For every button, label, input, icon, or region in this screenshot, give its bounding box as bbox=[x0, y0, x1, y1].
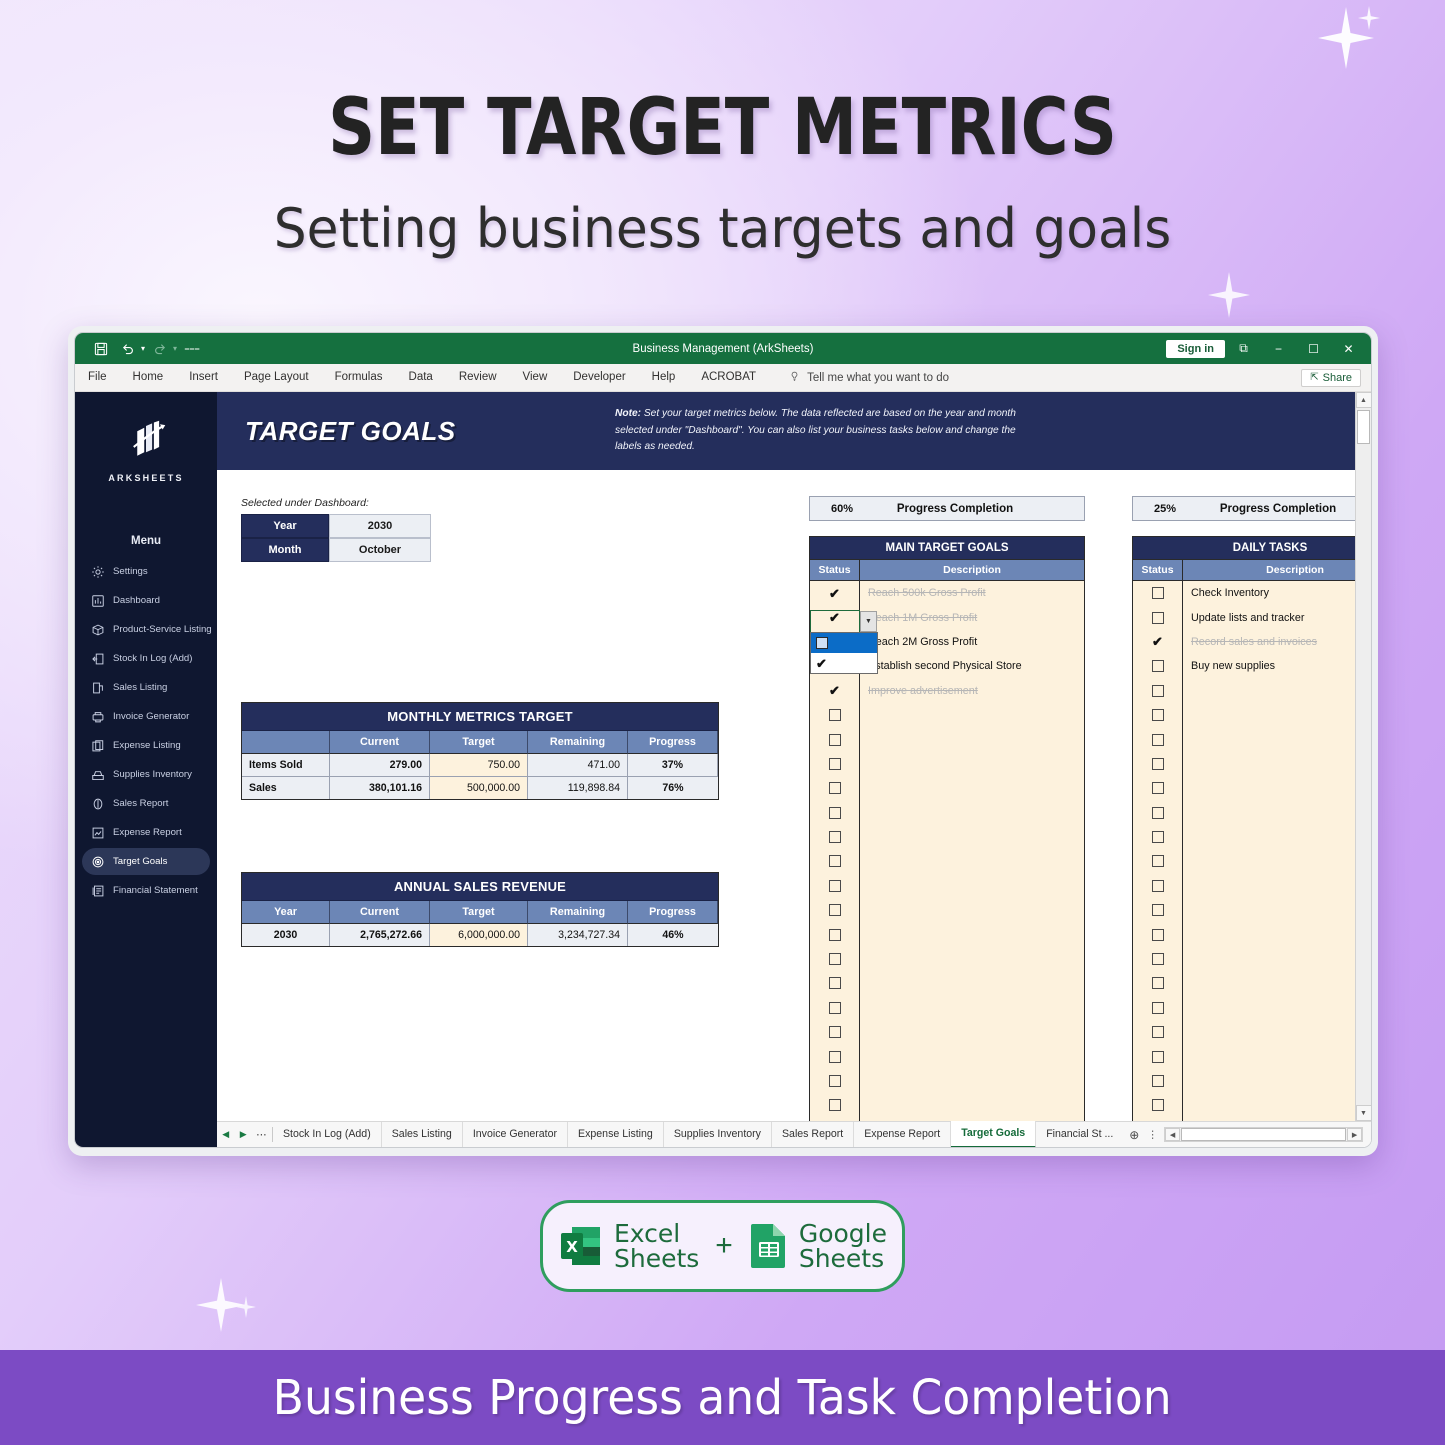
sidebar-item-financial-statement[interactable]: Financial Statement bbox=[82, 877, 210, 904]
ribbon-display-options-icon[interactable]: ⧉ bbox=[1227, 336, 1260, 362]
selector-key: Month bbox=[241, 538, 329, 562]
main-goal-status-cell[interactable] bbox=[810, 752, 860, 776]
daily-task-status-cell[interactable] bbox=[1133, 898, 1183, 922]
chart-icon bbox=[90, 593, 105, 608]
main-goal-row bbox=[810, 922, 1084, 946]
target-icon bbox=[90, 854, 105, 869]
cell-current: 2,765,272.66 bbox=[330, 924, 430, 946]
cell-progress: 46% bbox=[628, 924, 718, 946]
main-goal-status-cell[interactable] bbox=[810, 801, 860, 825]
unchecked-box-icon bbox=[1152, 1002, 1164, 1014]
hscroll-left-icon[interactable]: ◀ bbox=[1165, 1128, 1180, 1141]
sidebar-item-expense-listing[interactable]: Expense Listing bbox=[82, 732, 210, 759]
arksheets-logo-icon bbox=[125, 420, 167, 460]
sidebar-item-label: Sales Listing bbox=[113, 682, 167, 693]
unchecked-box-icon bbox=[829, 1026, 841, 1038]
column-header: Target bbox=[430, 731, 528, 754]
column-header: Progress bbox=[628, 901, 718, 924]
daily-task-row bbox=[1133, 849, 1355, 873]
google-sheets-badge-group: Google Sheets bbox=[749, 1221, 887, 1272]
sidebar-item-sales-report[interactable]: Sales Report bbox=[82, 790, 210, 817]
cell-current: 380,101.16 bbox=[330, 777, 430, 799]
cell-target[interactable]: 500,000.00 bbox=[430, 777, 528, 799]
main-goal-row: ✔Reach 500k Gross Profit bbox=[810, 581, 1084, 605]
daily-task-description-cell[interactable]: Check Inventory bbox=[1183, 587, 1355, 599]
vertical-scroll-thumb[interactable] bbox=[1357, 410, 1370, 444]
sales-report-icon bbox=[90, 796, 105, 811]
check-mark-icon: ✔ bbox=[816, 657, 827, 670]
main-goal-row: ✔Improve advertisement bbox=[810, 679, 1084, 703]
cell-target[interactable]: 750.00 bbox=[430, 754, 528, 777]
invoice-icon bbox=[90, 709, 105, 724]
main-goal-status-cell[interactable] bbox=[810, 1020, 860, 1044]
expense-report-icon bbox=[90, 825, 105, 840]
unchecked-box-icon bbox=[829, 880, 841, 892]
sidebar-item-label: Financial Statement bbox=[113, 885, 198, 896]
daily-task-row: ✔Record sales and invoices bbox=[1133, 630, 1355, 654]
daily-task-row bbox=[1133, 1069, 1355, 1093]
main-goal-status-cell[interactable]: ✔ bbox=[810, 581, 860, 605]
main-goal-row bbox=[810, 752, 1084, 776]
daily-task-status-cell[interactable] bbox=[1133, 605, 1183, 629]
minimize-button[interactable]: − bbox=[1262, 336, 1295, 362]
dropdown-option-checked[interactable]: ✔ bbox=[811, 653, 877, 673]
main-goal-status-cell[interactable] bbox=[810, 922, 860, 946]
redo-dropdown-icon[interactable]: ▾ bbox=[173, 344, 177, 353]
main-goal-status-cell[interactable]: ✔ bbox=[810, 605, 860, 629]
daily-task-row bbox=[1133, 776, 1355, 800]
unchecked-box-icon bbox=[829, 904, 841, 916]
unchecked-box-icon bbox=[829, 1051, 841, 1063]
main-goal-row bbox=[810, 1020, 1084, 1044]
sidebar-item-settings[interactable]: Settings bbox=[82, 558, 210, 585]
main-goal-status-cell[interactable] bbox=[810, 727, 860, 751]
daily-task-row bbox=[1133, 996, 1355, 1020]
unchecked-box-icon bbox=[829, 709, 841, 721]
footer-text: Business Progress and Task Completion bbox=[273, 1370, 1172, 1426]
compatibility-badge: X Excel Sheets + Google Sheets bbox=[540, 1200, 905, 1292]
ribbon-tab-home[interactable]: Home bbox=[120, 364, 177, 391]
worksheet-scroll-area: TARGET GOALS Note: Set your target metri… bbox=[217, 392, 1371, 1121]
ribbon-tab-file[interactable]: File bbox=[75, 364, 120, 391]
ribbon-tab-review[interactable]: Review bbox=[446, 364, 510, 391]
ribbon-tab-data[interactable]: Data bbox=[396, 364, 446, 391]
main-goal-row bbox=[810, 874, 1084, 898]
main-goal-status-cell[interactable] bbox=[810, 947, 860, 971]
panel-header-row: Status Description bbox=[1133, 559, 1355, 581]
unchecked-box-icon bbox=[1152, 953, 1164, 965]
daily-task-status-cell[interactable] bbox=[1133, 752, 1183, 776]
box-icon bbox=[90, 622, 105, 637]
daily-task-status-cell[interactable] bbox=[1133, 849, 1183, 873]
daily-task-row: Buy new supplies bbox=[1133, 654, 1355, 678]
unchecked-box-icon bbox=[829, 782, 841, 794]
sheet-content: Selected under Dashboard: Year 2030 Mont… bbox=[217, 470, 1355, 1121]
main-goal-row bbox=[810, 727, 1084, 751]
vertical-scrollbar[interactable]: ▲ ▼ bbox=[1355, 392, 1371, 1121]
daily-task-row bbox=[1133, 1093, 1355, 1117]
daily-task-row bbox=[1133, 947, 1355, 971]
unchecked-box-icon bbox=[829, 1075, 841, 1087]
daily-task-status-cell[interactable] bbox=[1133, 654, 1183, 678]
tab-more-icon[interactable]: ⋯ bbox=[252, 1129, 272, 1141]
quick-access-toolbar: ▾ ▾ ⩶ bbox=[75, 338, 204, 360]
main-goal-row bbox=[810, 1044, 1084, 1068]
stock-in-icon bbox=[90, 651, 105, 666]
cell-target[interactable]: 6,000,000.00 bbox=[430, 924, 528, 946]
excel-window: ▾ ▾ ⩶ Business Management (ArkSheets) Si… bbox=[74, 332, 1372, 1148]
unchecked-box-icon bbox=[1152, 758, 1164, 770]
column-header: Current bbox=[330, 731, 430, 754]
main-goals-progress-label: Progress Completion bbox=[874, 503, 1084, 515]
ribbon-tab-page-layout[interactable]: Page Layout bbox=[231, 364, 322, 391]
sidebar-item-sales-listing[interactable]: Sales Listing bbox=[82, 674, 210, 701]
share-button[interactable]: ⇱ Share bbox=[1301, 369, 1361, 387]
customize-toolbar-icon[interactable]: ⩶ bbox=[180, 338, 204, 360]
sheet-tab-sales-report[interactable]: Sales Report bbox=[772, 1122, 854, 1147]
scroll-down-icon[interactable]: ▼ bbox=[1356, 1105, 1372, 1121]
daily-task-status-cell[interactable] bbox=[1133, 801, 1183, 825]
main-goals-progress-pct: 60% bbox=[810, 503, 874, 515]
panel-title: MAIN TARGET GOALS bbox=[810, 537, 1084, 559]
ribbon-tab-insert[interactable]: Insert bbox=[176, 364, 231, 391]
unchecked-box-icon bbox=[1152, 1051, 1164, 1063]
main-goal-status-cell[interactable] bbox=[810, 1093, 860, 1117]
window-controls: Sign in ⧉ − ☐ ✕ bbox=[1166, 336, 1371, 362]
sidebar-item-label: Expense Listing bbox=[113, 740, 181, 751]
selector-row-year: Year 2030 bbox=[241, 514, 431, 538]
unchecked-box-icon bbox=[829, 953, 841, 965]
unchecked-box-icon bbox=[1152, 855, 1164, 867]
unchecked-box-icon bbox=[1152, 929, 1164, 941]
ribbon-tabs: File Home Insert Page Layout Formulas Da… bbox=[75, 364, 1371, 392]
cell-progress: 76% bbox=[628, 777, 718, 799]
svg-text:X: X bbox=[566, 1238, 578, 1256]
main-goal-status-cell[interactable] bbox=[810, 703, 860, 727]
unchecked-box-icon bbox=[829, 758, 841, 770]
main-goal-description-cell[interactable]: Reach 2M Gross Profit bbox=[860, 636, 1084, 648]
google-label-line1: Google bbox=[799, 1221, 887, 1247]
main-goal-row bbox=[810, 1093, 1084, 1117]
selector-value-year[interactable]: 2030 bbox=[329, 514, 431, 538]
sidebar-item-stock-in-log[interactable]: Stock In Log (Add) bbox=[82, 645, 210, 672]
main-goal-row bbox=[810, 703, 1084, 727]
daily-task-row bbox=[1133, 971, 1355, 995]
main-goal-status-cell[interactable] bbox=[810, 849, 860, 873]
cell-current: 279.00 bbox=[330, 754, 430, 777]
menu-heading: Menu bbox=[75, 535, 217, 547]
sheet-tab-bar: ◀ ▶ ⋯ Stock In Log (Add) Sales Listing I… bbox=[217, 1121, 1371, 1147]
main-goal-row bbox=[810, 971, 1084, 995]
daily-task-row: Check Inventory bbox=[1133, 581, 1355, 605]
unchecked-box-icon bbox=[816, 637, 828, 649]
column-header: Progress bbox=[628, 731, 718, 754]
ribbon-tab-acrobat[interactable]: ACROBAT bbox=[688, 364, 769, 391]
add-sheet-icon[interactable]: ⊕ bbox=[1123, 1128, 1145, 1142]
daily-task-status-cell[interactable] bbox=[1133, 703, 1183, 727]
daily-task-status-cell[interactable] bbox=[1133, 679, 1183, 703]
panel-header-row: Status Description bbox=[810, 559, 1084, 581]
main-goal-status-cell[interactable] bbox=[810, 825, 860, 849]
main-goal-row bbox=[810, 801, 1084, 825]
share-label: Share bbox=[1323, 372, 1352, 384]
column-header-description: Description bbox=[1183, 559, 1355, 581]
brand-block: ARKSHEETS bbox=[75, 420, 217, 483]
daily-task-row: Update lists and tracker bbox=[1133, 605, 1355, 629]
sheet-tab-stock-in-log[interactable]: Stock In Log (Add) bbox=[273, 1122, 382, 1147]
excel-label-line1: Excel bbox=[614, 1221, 699, 1247]
cell-remaining: 471.00 bbox=[528, 754, 628, 777]
table-row-label: Sales bbox=[242, 777, 330, 799]
unchecked-box-icon bbox=[1152, 660, 1164, 672]
daily-task-row bbox=[1133, 679, 1355, 703]
daily-task-status-cell[interactable] bbox=[1133, 971, 1183, 995]
column-header: Target bbox=[430, 901, 528, 924]
save-icon[interactable] bbox=[89, 338, 113, 360]
daily-task-description-cell[interactable]: Update lists and tracker bbox=[1183, 612, 1355, 624]
sidebar-item-supplies-inventory[interactable]: Supplies Inventory bbox=[82, 761, 210, 788]
daily-task-row bbox=[1133, 922, 1355, 946]
monthly-metrics-table: MONTHLY METRICS TARGET Current Target Re… bbox=[241, 702, 719, 800]
note-label: Note: bbox=[615, 408, 641, 419]
daily-tasks-panel: DAILY TASKS Status Description Check Inv… bbox=[1132, 536, 1355, 1121]
unchecked-box-icon bbox=[829, 734, 841, 746]
undo-dropdown-icon[interactable]: ▾ bbox=[141, 344, 145, 353]
main-goal-status-cell[interactable] bbox=[810, 898, 860, 922]
unchecked-box-icon bbox=[1152, 734, 1164, 746]
sheet-title: TARGET GOALS bbox=[245, 416, 615, 447]
dropdown-option-unchecked[interactable] bbox=[811, 633, 877, 653]
excel-badge-label: Excel Sheets bbox=[614, 1221, 699, 1272]
selector-value-month[interactable]: October bbox=[329, 538, 431, 562]
plus-icon: + bbox=[715, 1229, 733, 1263]
sidebar-item-dashboard[interactable]: Dashboard bbox=[82, 587, 210, 614]
cell-remaining: 119,898.84 bbox=[528, 777, 628, 799]
sidebar-item-label: Settings bbox=[113, 566, 148, 577]
selector-key: Year bbox=[241, 514, 329, 538]
excel-label-line2: Sheets bbox=[614, 1246, 699, 1272]
daily-task-row bbox=[1133, 825, 1355, 849]
dropdown-arrow-icon[interactable]: ▼ bbox=[860, 611, 877, 632]
unchecked-box-icon bbox=[1152, 1099, 1164, 1111]
column-header-status: Status bbox=[1133, 559, 1183, 581]
google-label-line2: Sheets bbox=[799, 1246, 887, 1272]
tell-me-search[interactable]: Tell me what you want to do bbox=[789, 371, 949, 385]
tell-me-placeholder: Tell me what you want to do bbox=[807, 372, 949, 384]
main-goal-description-cell[interactable]: Establish second Physical Store bbox=[860, 660, 1084, 672]
daily-task-status-cell[interactable] bbox=[1133, 1093, 1183, 1117]
unchecked-box-icon bbox=[1152, 709, 1164, 721]
supplies-icon bbox=[90, 767, 105, 782]
ribbon-tab-view[interactable]: View bbox=[510, 364, 561, 391]
column-header-description: Description bbox=[860, 559, 1084, 581]
daily-task-description-cell[interactable]: Record sales and invoices bbox=[1183, 636, 1355, 648]
sales-icon bbox=[90, 680, 105, 695]
daily-task-status-cell[interactable] bbox=[1133, 1069, 1183, 1093]
expense-icon bbox=[90, 738, 105, 753]
worksheet-area: TARGET GOALS Note: Set your target metri… bbox=[217, 392, 1371, 1147]
sidebar-item-label: Expense Report bbox=[113, 827, 182, 838]
main-goal-status-cell[interactable] bbox=[810, 874, 860, 898]
maximize-button[interactable]: ☐ bbox=[1297, 336, 1330, 362]
sheet-tab-supplies-inventory[interactable]: Supplies Inventory bbox=[664, 1122, 772, 1147]
daily-task-description-cell[interactable]: Buy new supplies bbox=[1183, 660, 1355, 672]
window-titlebar: ▾ ▾ ⩶ Business Management (ArkSheets) Si… bbox=[75, 333, 1371, 364]
main-goal-description-cell[interactable]: Reach 1M Gross Profit bbox=[860, 612, 1084, 624]
main-goal-row bbox=[810, 1069, 1084, 1093]
sheet-banner: TARGET GOALS Note: Set your target metri… bbox=[217, 392, 1355, 470]
main-goal-description-cell[interactable]: Reach 500k Gross Profit bbox=[860, 587, 1084, 599]
daily-task-row bbox=[1133, 727, 1355, 751]
table-grid: Current Target Remaining Progress Items … bbox=[242, 731, 718, 799]
page-subtitle: Setting business targets and goals bbox=[29, 197, 1416, 260]
unchecked-box-icon bbox=[829, 807, 841, 819]
unchecked-box-icon bbox=[1152, 1026, 1164, 1038]
check-mark-icon: ✔ bbox=[829, 587, 840, 600]
tab-next-icon[interactable]: ▶ bbox=[234, 1129, 251, 1140]
sidebar-item-product-service-listing[interactable]: Product-Service Listing bbox=[82, 616, 210, 643]
scroll-up-icon[interactable]: ▲ bbox=[1356, 392, 1372, 408]
daily-task-row bbox=[1133, 1118, 1355, 1121]
lightbulb-icon bbox=[789, 371, 800, 385]
hscroll-right-icon[interactable]: ▶ bbox=[1347, 1128, 1362, 1141]
sidebar-item-label: Target Goals bbox=[113, 856, 167, 867]
main-goal-row bbox=[810, 898, 1084, 922]
daily-task-status-cell[interactable] bbox=[1133, 1044, 1183, 1068]
column-header bbox=[242, 731, 330, 754]
tab-overflow-icon[interactable]: ⋮ bbox=[1145, 1129, 1160, 1141]
main-target-goals-panel: MAIN TARGET GOALS Status Description ✔Re… bbox=[809, 536, 1085, 1121]
sidebar-item-target-goals[interactable]: Target Goals bbox=[82, 848, 210, 875]
footer-banner: Business Progress and Task Completion bbox=[0, 1350, 1445, 1445]
unchecked-box-icon bbox=[1152, 977, 1164, 989]
daily-task-row bbox=[1133, 703, 1355, 727]
ribbon-tab-developer[interactable]: Developer bbox=[560, 364, 638, 391]
daily-task-status-cell[interactable]: ✔ bbox=[1133, 630, 1183, 654]
main-goal-status-cell[interactable] bbox=[810, 1044, 860, 1068]
cell-year: 2030 bbox=[242, 924, 330, 946]
page-headings: SET TARGET METRICS Setting business targ… bbox=[0, 0, 1445, 260]
workbook-body: ARKSHEETS Menu Settings Dashboard Produc… bbox=[75, 392, 1371, 1147]
main-goal-status-cell[interactable] bbox=[810, 971, 860, 995]
unchecked-box-icon bbox=[829, 1099, 841, 1111]
worksheet-canvas: TARGET GOALS Note: Set your target metri… bbox=[217, 392, 1355, 1121]
sheet-tab-sales-listing[interactable]: Sales Listing bbox=[382, 1122, 463, 1147]
main-goal-row bbox=[810, 849, 1084, 873]
sidebar-item-label: Dashboard bbox=[113, 595, 160, 606]
sidebar-item-invoice-generator[interactable]: Invoice Generator bbox=[82, 703, 210, 730]
unchecked-box-icon bbox=[829, 855, 841, 867]
main-goal-description-cell[interactable]: Improve advertisement bbox=[860, 685, 1084, 697]
daily-task-row bbox=[1133, 874, 1355, 898]
check-mark-icon: ✔ bbox=[829, 684, 840, 697]
share-icon: ⇱ bbox=[1310, 372, 1318, 383]
daily-task-status-cell[interactable] bbox=[1133, 996, 1183, 1020]
main-goal-status-cell[interactable] bbox=[810, 1118, 860, 1121]
column-header: Current bbox=[330, 901, 430, 924]
daily-task-status-cell[interactable] bbox=[1133, 922, 1183, 946]
main-goals-progress-bar: 60% Progress Completion bbox=[809, 496, 1085, 521]
unchecked-box-icon bbox=[1152, 880, 1164, 892]
excel-icon: X bbox=[558, 1223, 604, 1269]
status-dropdown-list[interactable]: ✔ bbox=[810, 632, 878, 674]
undo-icon[interactable] bbox=[116, 338, 140, 360]
app-sidebar: ARKSHEETS Menu Settings Dashboard Produc… bbox=[75, 392, 217, 1147]
daily-task-status-cell[interactable] bbox=[1133, 1020, 1183, 1044]
daily-task-row bbox=[1133, 801, 1355, 825]
main-goal-row bbox=[810, 776, 1084, 800]
check-mark-icon: ✔ bbox=[829, 611, 840, 624]
financial-icon bbox=[90, 883, 105, 898]
sidebar-item-label: Sales Report bbox=[113, 798, 168, 809]
daily-task-status-cell[interactable] bbox=[1133, 825, 1183, 849]
tab-prev-icon[interactable]: ◀ bbox=[217, 1129, 234, 1140]
daily-task-status-cell[interactable] bbox=[1133, 874, 1183, 898]
main-goal-status-cell[interactable] bbox=[810, 996, 860, 1020]
ribbon-tab-help[interactable]: Help bbox=[639, 364, 689, 391]
sheet-note: Note: Set your target metrics below. The… bbox=[615, 406, 1045, 456]
note-text: Set your target metrics below. The data … bbox=[615, 408, 1016, 452]
unchecked-box-icon bbox=[1152, 831, 1164, 843]
unchecked-box-icon bbox=[1152, 782, 1164, 794]
sheet-tab-expense-listing[interactable]: Expense Listing bbox=[568, 1122, 664, 1147]
daily-task-status-cell[interactable] bbox=[1133, 581, 1183, 605]
unchecked-box-icon bbox=[1152, 612, 1164, 624]
daily-task-status-cell[interactable] bbox=[1133, 1118, 1183, 1121]
panel-title: DAILY TASKS bbox=[1133, 537, 1355, 559]
sheet-tab-financial-statement[interactable]: Financial St ... bbox=[1036, 1122, 1123, 1147]
sheet-tab-invoice-generator[interactable]: Invoice Generator bbox=[463, 1122, 568, 1147]
sheet-tab-target-goals[interactable]: Target Goals bbox=[951, 1121, 1036, 1148]
daily-task-row bbox=[1133, 1020, 1355, 1044]
daily-task-status-cell[interactable] bbox=[1133, 947, 1183, 971]
daily-tasks-progress-bar: 25% Progress Completion bbox=[1132, 496, 1355, 521]
ribbon-tab-formulas[interactable]: Formulas bbox=[322, 364, 396, 391]
sign-in-button[interactable]: Sign in bbox=[1166, 340, 1225, 358]
daily-task-status-cell[interactable] bbox=[1133, 776, 1183, 800]
cell-remaining: 3,234,727.34 bbox=[528, 924, 628, 946]
selector-caption: Selected under Dashboard: bbox=[241, 497, 369, 509]
horizontal-scroll-thumb[interactable] bbox=[1181, 1128, 1346, 1141]
unchecked-box-icon bbox=[1152, 807, 1164, 819]
main-goal-row bbox=[810, 947, 1084, 971]
daily-task-status-cell[interactable] bbox=[1133, 727, 1183, 751]
sidebar-item-expense-report[interactable]: Expense Report bbox=[82, 819, 210, 846]
table-grid: Year Current Target Remaining Progress 2… bbox=[242, 901, 718, 946]
unchecked-box-icon bbox=[829, 929, 841, 941]
daily-tasks-progress-label: Progress Completion bbox=[1197, 503, 1355, 515]
main-goal-row bbox=[810, 825, 1084, 849]
main-goal-row: ✔Reach 1M Gross Profit bbox=[810, 605, 1084, 629]
daily-tasks-progress-pct: 25% bbox=[1133, 503, 1197, 515]
main-goal-status-cell[interactable]: ✔ bbox=[810, 679, 860, 703]
unchecked-box-icon bbox=[829, 977, 841, 989]
sidebar-item-label: Product-Service Listing bbox=[113, 624, 212, 635]
gear-icon bbox=[90, 564, 105, 579]
sheet-tab-expense-report[interactable]: Expense Report bbox=[854, 1122, 951, 1147]
year-month-selector: Year 2030 Month October bbox=[241, 514, 431, 562]
check-mark-icon: ✔ bbox=[1152, 635, 1163, 648]
horizontal-scrollbar[interactable]: ◀ ▶ bbox=[1164, 1127, 1363, 1142]
close-button[interactable]: ✕ bbox=[1332, 336, 1365, 362]
main-goal-status-cell[interactable] bbox=[810, 776, 860, 800]
sidebar-item-label: Invoice Generator bbox=[113, 711, 189, 722]
unchecked-box-icon bbox=[1152, 904, 1164, 916]
sidebar-item-label: Supplies Inventory bbox=[113, 769, 192, 780]
main-goal-status-cell[interactable] bbox=[810, 1069, 860, 1093]
table-title: MONTHLY METRICS TARGET bbox=[242, 703, 718, 731]
redo-icon[interactable] bbox=[148, 338, 172, 360]
